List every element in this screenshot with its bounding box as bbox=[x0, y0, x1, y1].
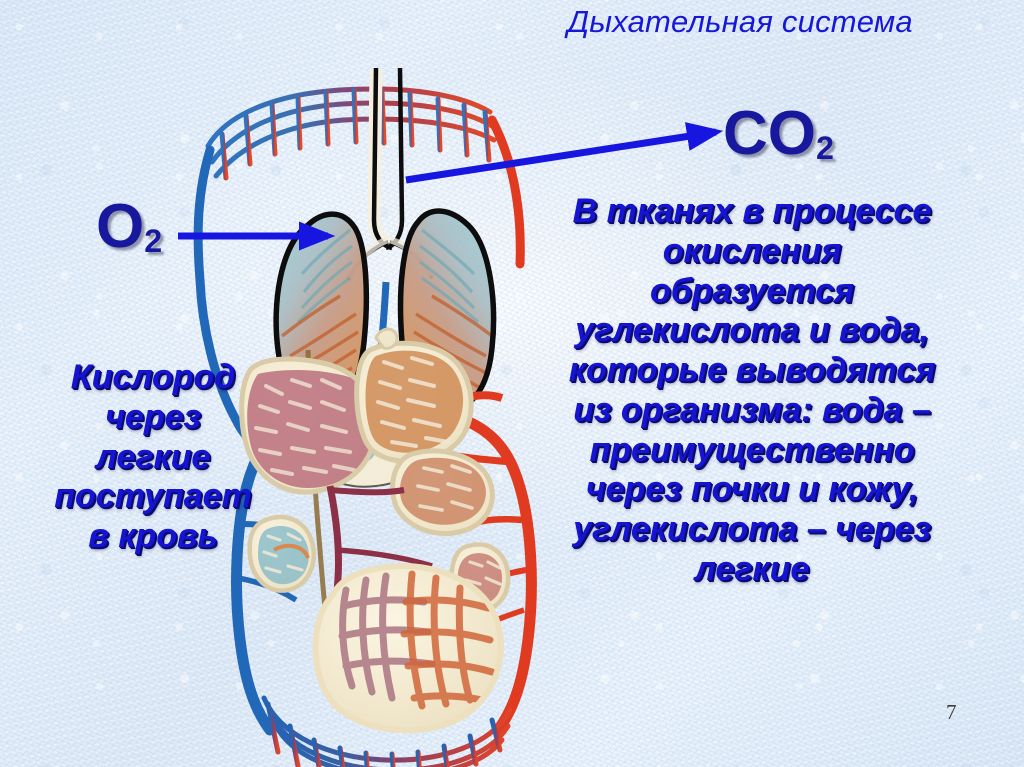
right-body-line: углекислота – через bbox=[498, 510, 1006, 550]
left-caption-line: поступает bbox=[8, 477, 298, 517]
o2-label: O2 bbox=[96, 196, 162, 258]
left-caption-line: Кислород bbox=[8, 358, 298, 398]
co2-label: CO2 bbox=[723, 103, 834, 165]
slide-canvas: Дыхательная система CO2 O2 Кислород чере… bbox=[0, 0, 1024, 767]
intestines bbox=[316, 566, 501, 730]
page-title: Дыхательная система bbox=[505, 4, 975, 40]
right-body-line: В тканях в процессе bbox=[498, 192, 1006, 232]
right-body-line: через почки и кожу, bbox=[498, 470, 1006, 510]
right-body-line: углекислота и вода, bbox=[498, 311, 1006, 351]
right-body-line: из организма: вода – bbox=[498, 391, 1006, 431]
right-body-line: легкие bbox=[498, 550, 1006, 590]
page-number: 7 bbox=[946, 700, 957, 725]
left-caption-line: в кровь bbox=[8, 517, 298, 557]
left-caption-line: через bbox=[8, 398, 298, 438]
o2-formula: O bbox=[96, 192, 144, 261]
left-caption: Кислород через легкие поступает в кровь bbox=[8, 358, 298, 557]
right-body-text: В тканях в процессе окисления образуется… bbox=[498, 192, 1006, 590]
o2-subscript: 2 bbox=[144, 223, 162, 259]
right-body-line: образуется bbox=[498, 272, 1006, 312]
right-body-line: которые выводятся bbox=[498, 351, 1006, 391]
superior-vena-cava-branch bbox=[198, 150, 210, 280]
right-body-line: преимущественно bbox=[498, 431, 1006, 471]
spleen bbox=[393, 451, 493, 534]
co2-subscript: 2 bbox=[816, 130, 834, 166]
right-body-line: окисления bbox=[498, 232, 1006, 272]
left-caption-line: легкие bbox=[8, 438, 298, 478]
co2-formula: CO bbox=[723, 99, 816, 168]
